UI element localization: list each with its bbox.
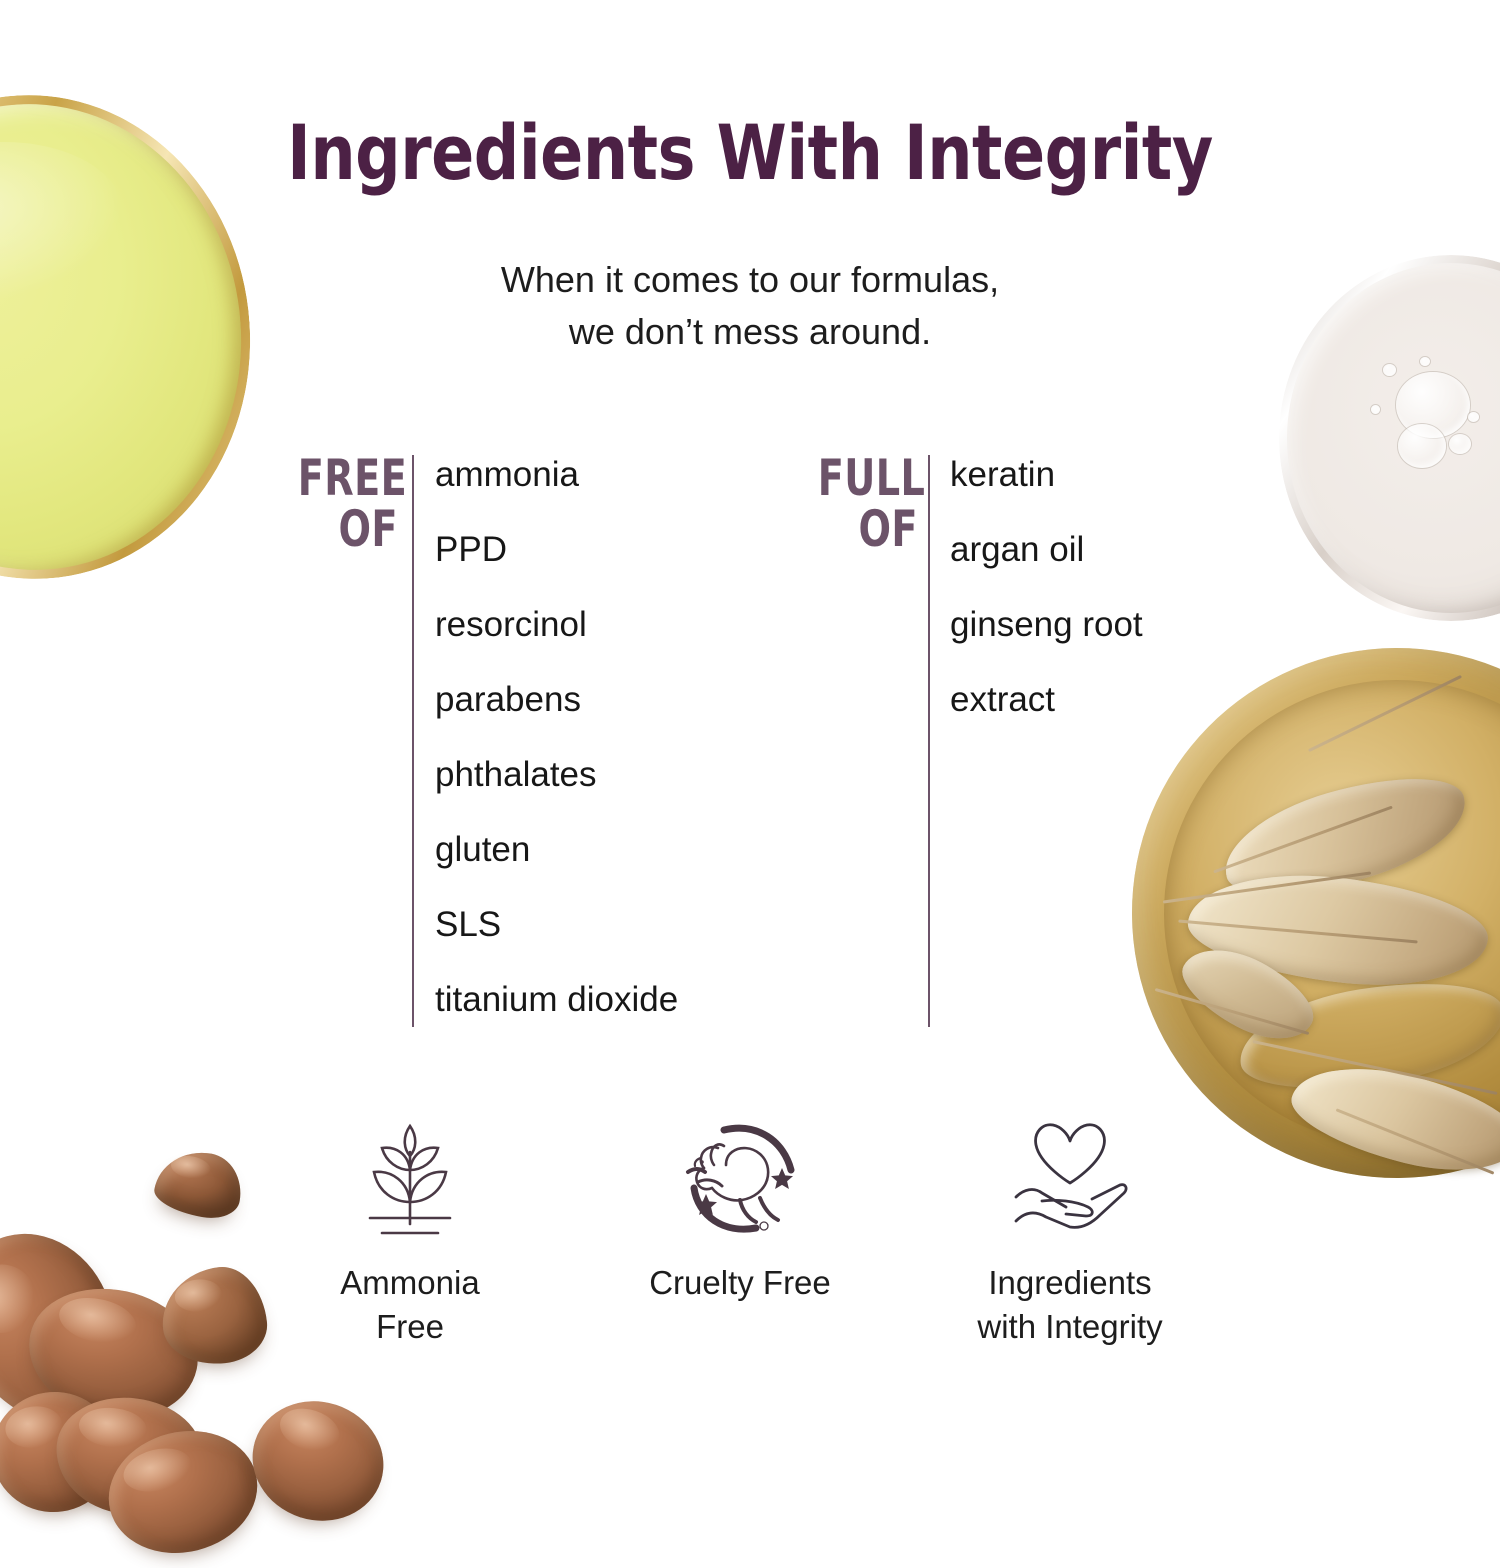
badge-row: Ammonia Free (260, 1105, 1260, 1395)
gel-bubble (1468, 412, 1479, 422)
list-item: keratin (950, 447, 1143, 522)
ingredient-columns: FREE OF ammonia PPD resorcinol parabens … (0, 447, 1500, 1047)
full-of-label: FULL OF (818, 453, 918, 555)
list-item: parabens (435, 672, 678, 747)
list-item: SLS (435, 897, 678, 972)
gel-bubble (1371, 405, 1380, 414)
hand-heart-icon (920, 1105, 1220, 1253)
argan-nut (237, 1384, 399, 1537)
badge-ammonia-free: Ammonia Free (260, 1105, 560, 1349)
page-subtitle: When it comes to our formulas, we don’t … (300, 254, 1200, 358)
full-of-list: keratin argan oil ginseng root extract (950, 447, 1143, 747)
badge-label: Ammonia Free (260, 1261, 560, 1349)
page-title: Ingredients With Integrity (53, 108, 1448, 197)
sprout-icon (260, 1105, 560, 1253)
page-canvas: Ingredients With Integrity When it comes… (0, 0, 1500, 1500)
free-of-column: FREE OF ammonia PPD resorcinol parabens … (280, 447, 800, 1032)
list-item: phthalates (435, 747, 678, 822)
list-item: argan oil (950, 522, 1143, 597)
argan-nut-shell (151, 1145, 247, 1223)
gel-bubble (1383, 364, 1396, 376)
badge-label: Ingredients with Integrity (920, 1261, 1220, 1349)
list-item: gluten (435, 822, 678, 897)
list-item: PPD (435, 522, 678, 597)
badge-ingredients-integrity: Ingredients with Integrity (920, 1105, 1220, 1349)
full-of-column: FULL OF keratin argan oil ginseng root e… (800, 447, 1240, 1032)
list-item: extract (950, 672, 1143, 747)
list-item: resorcinol (435, 597, 678, 672)
column-divider (412, 455, 414, 1027)
leaping-bunny-icon (590, 1105, 890, 1253)
list-item: ammonia (435, 447, 678, 522)
list-item: titanium dioxide (435, 972, 678, 1047)
gel-bubble (1420, 357, 1430, 366)
free-of-label: FREE OF (298, 453, 398, 555)
badge-cruelty-free: Cruelty Free (590, 1105, 890, 1305)
badge-label: Cruelty Free (590, 1261, 890, 1305)
list-item: ginseng root (950, 597, 1143, 672)
column-divider (928, 455, 930, 1027)
free-of-list: ammonia PPD resorcinol parabens phthalat… (435, 447, 678, 1047)
